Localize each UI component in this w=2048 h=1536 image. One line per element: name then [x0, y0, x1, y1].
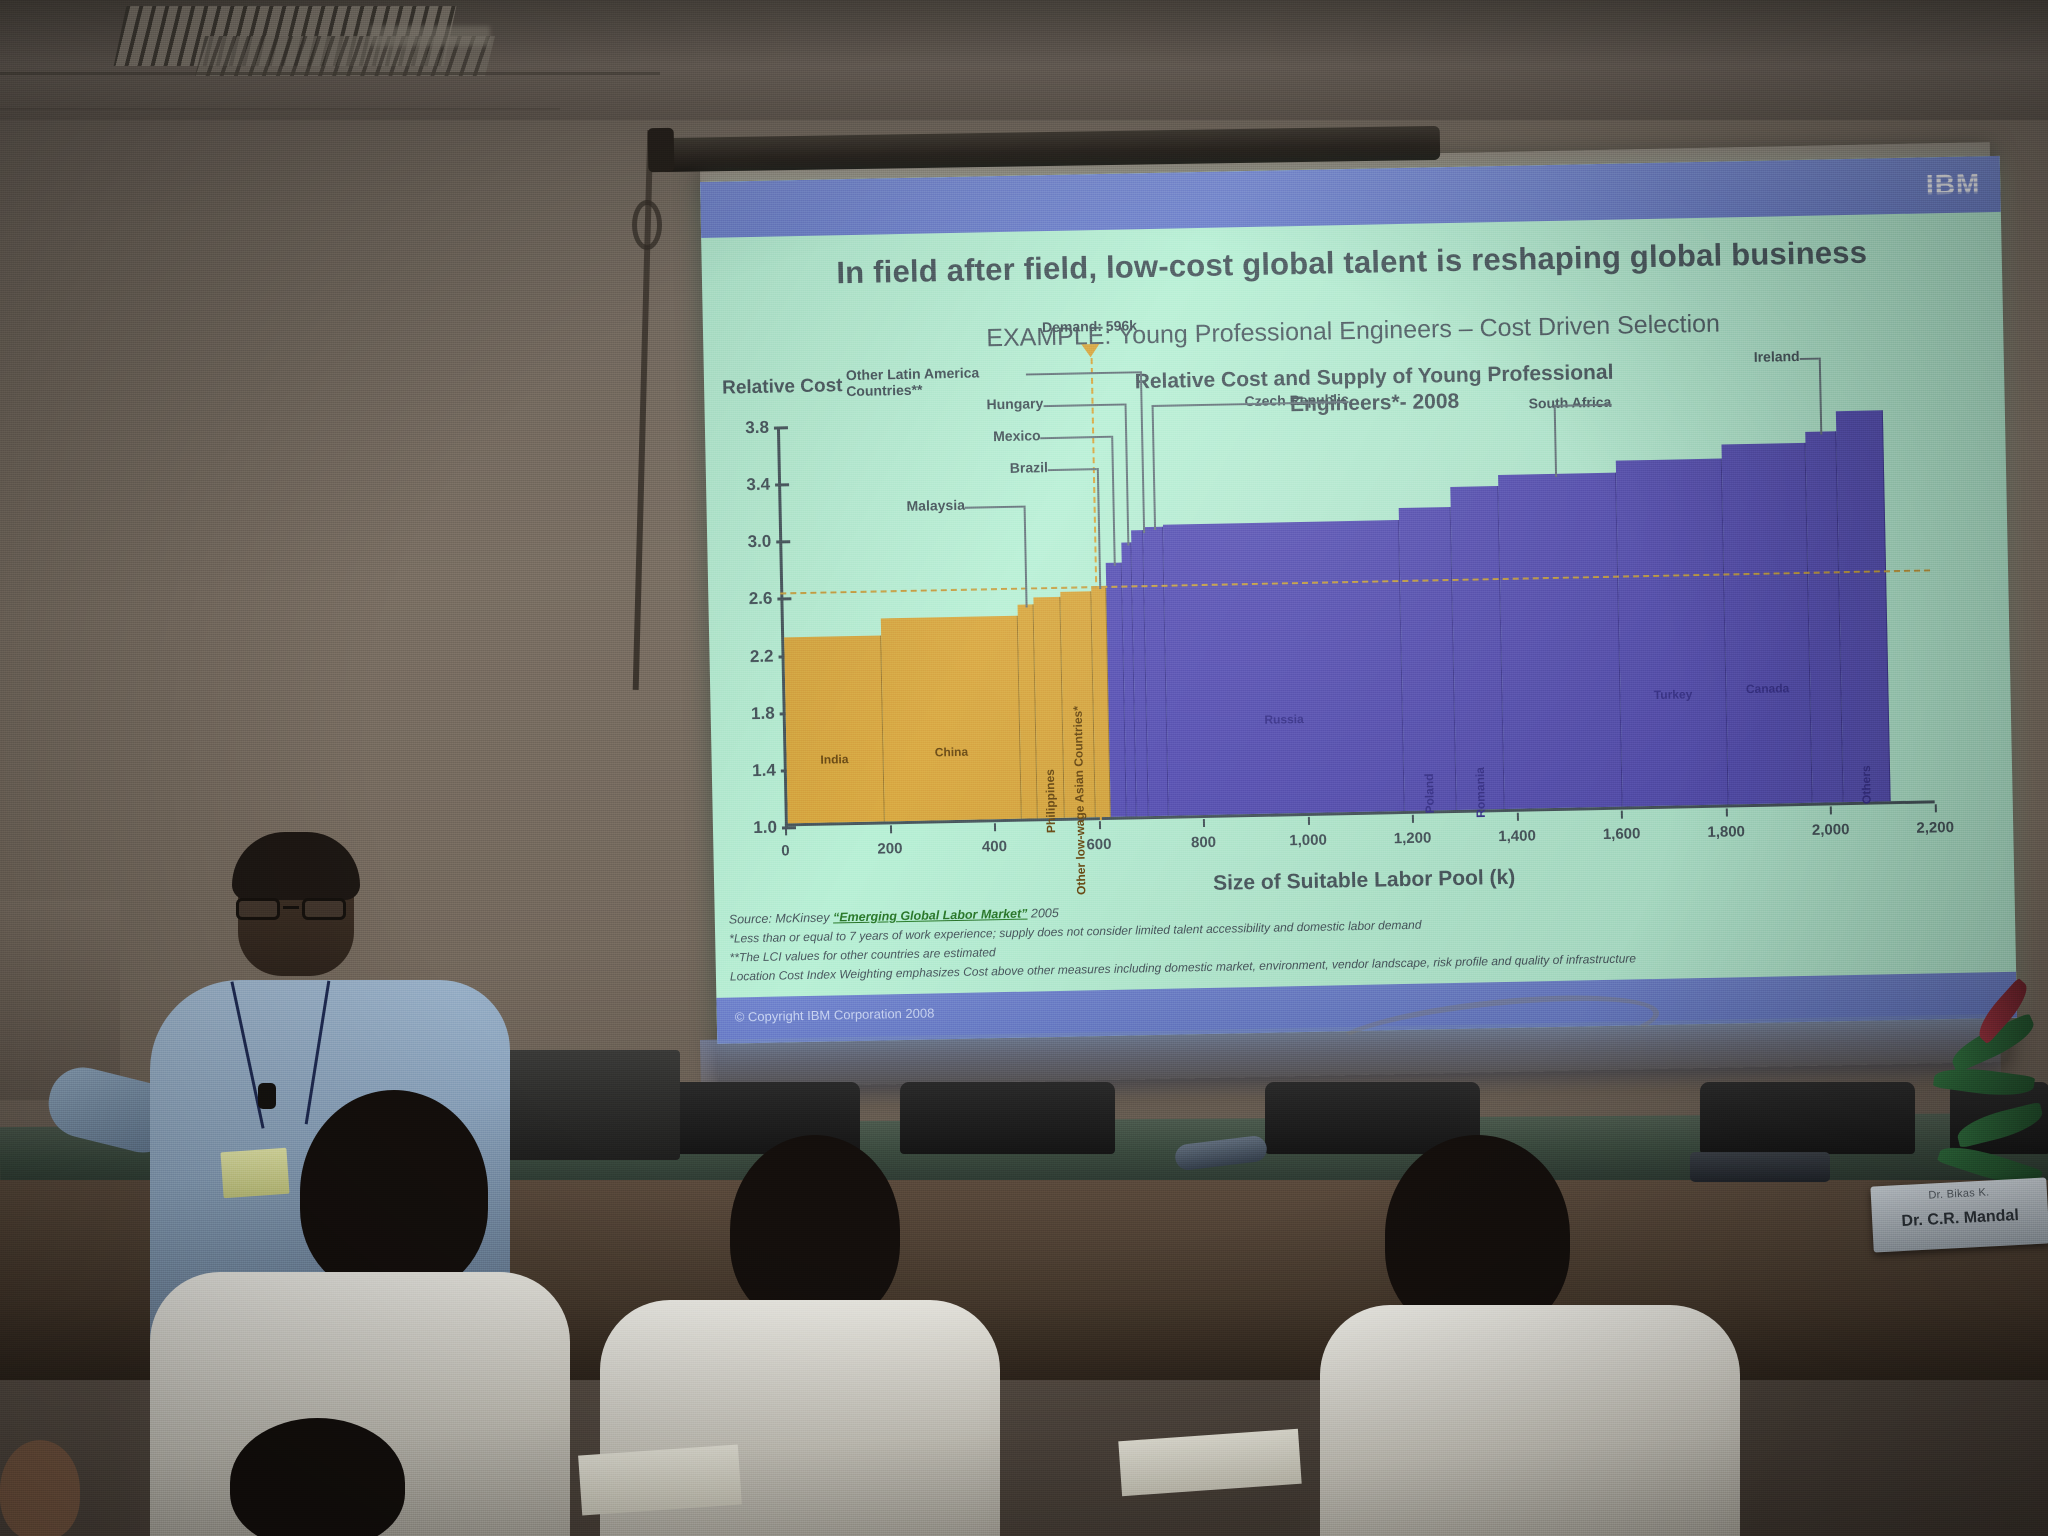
glasses-bridge [283, 906, 299, 909]
x-tick [889, 825, 891, 833]
wall-panel [0, 900, 120, 1100]
copyright-text: © Copyright IBM Corporation 2008 [735, 1005, 935, 1024]
x-tick-label: 2,000 [1812, 821, 1850, 839]
bar-label: Turkey [1654, 687, 1693, 702]
glasses-lens-left [236, 898, 280, 920]
y-tick-label: 1.8 [730, 703, 774, 724]
bar-label: Russia [1264, 712, 1304, 727]
x-tick [1308, 817, 1310, 825]
bar-label: Poland [1422, 773, 1437, 813]
footnote-source-suffix: 2005 [1027, 906, 1059, 921]
x-tick [1517, 813, 1519, 821]
x-tick-label: 1,200 [1394, 829, 1432, 847]
y-axis-title: Relative Cost [722, 375, 843, 399]
nameplate-line-1: Dr. Bikas K. [1871, 1183, 2047, 1204]
demand-arrow-marker [1081, 344, 1099, 357]
callout-leader [1800, 358, 1819, 360]
y-tick-label: 1.0 [733, 818, 777, 839]
y-tick-label: 1.4 [732, 760, 776, 781]
audience-head [230, 1418, 405, 1536]
slide-subtitle: EXAMPLE: Young Professional Engineers – … [703, 304, 2003, 359]
paper-sheet [578, 1444, 742, 1515]
y-tick-label: 2.6 [728, 589, 772, 610]
presenter-lapel-mic [258, 1083, 276, 1109]
x-tick-label: 1,400 [1498, 827, 1536, 845]
callout-other-latin-america-countries: Other Latin America Countries** [846, 363, 1027, 399]
slide-title: In field after field, low-cost global ta… [702, 232, 2002, 294]
bar-label: Philippines [1043, 769, 1058, 833]
bar-russia: Russia [1162, 520, 1404, 816]
x-tick-label: 600 [1086, 836, 1111, 853]
bar-others: Others [1836, 410, 1891, 802]
x-tick-label: 1,800 [1707, 823, 1745, 841]
x-tick-label: 200 [877, 840, 902, 857]
bar-series: IndiaChinaPhilippinesOther low-wage Asia… [780, 403, 1935, 823]
callout-leader [1044, 404, 1125, 408]
plant-leaf [1933, 1063, 2035, 1101]
y-tick-label: 3.0 [727, 532, 771, 553]
footnote-source-link[interactable]: “Emerging Global Labor Market” [833, 907, 1028, 925]
nameplate-line-2: Dr. C.R. Mandal [1872, 1205, 2048, 1232]
x-tick-label: 400 [982, 838, 1007, 855]
footnote-source-prefix: Source: McKinsey [729, 910, 833, 926]
bar-india: India [784, 636, 884, 824]
x-tick-label: 0 [781, 842, 790, 859]
y-tick-label: 3.4 [726, 475, 770, 496]
x-tick-label: 1,600 [1603, 825, 1641, 843]
glasses-lens-right [302, 898, 346, 920]
chair [900, 1082, 1115, 1154]
projected-slide: IBM In field after field, low-cost globa… [700, 156, 2017, 1044]
callout-czech-republic: Czech Republic [1244, 391, 1349, 409]
bar-turkey: Turkey [1616, 459, 1728, 807]
screen-roller-cap [648, 128, 675, 172]
chart-plot-area: 1.01.41.82.22.63.03.43.8 02004006008001,… [777, 403, 1935, 826]
ceiling-light [370, 26, 490, 46]
bar-label: Other low-wage Asian Countries* [1071, 706, 1089, 895]
bar-other-low-wage-asian-countries: Other low-wage Asian Countries* [1060, 592, 1096, 818]
x-tick [785, 827, 787, 835]
bar-south-africa [1498, 472, 1623, 809]
x-tick-label: 1,000 [1289, 832, 1327, 850]
bar-label: Canada [1746, 681, 1790, 696]
x-tick [1621, 811, 1623, 819]
callout-malaysia: Malaysia [906, 497, 965, 514]
bar-label: Others [1859, 765, 1874, 804]
ibm-logo: IBM [1926, 168, 1981, 201]
audience-torso [1320, 1305, 1740, 1536]
microphone-secondary [1690, 1152, 1830, 1182]
callout-hungary: Hungary [986, 395, 1043, 412]
audience-head [0, 1440, 80, 1536]
chair [1700, 1082, 1915, 1154]
bar-label: Romania [1473, 767, 1488, 818]
bar-china: China [881, 616, 1023, 822]
bar-poland: Poland [1399, 507, 1457, 811]
wall-seam-lower [0, 108, 560, 110]
callout-mexico: Mexico [993, 427, 1041, 444]
y-tick-label: 2.2 [729, 646, 773, 667]
audience-head [730, 1135, 900, 1325]
wall-seam [0, 72, 660, 75]
x-tick [994, 823, 996, 831]
callout-brazil: Brazil [1010, 459, 1048, 476]
presenter-glasses [236, 898, 346, 920]
presenter-badge [220, 1148, 289, 1198]
x-tick-label: 2,200 [1916, 819, 1954, 837]
x-tick [1099, 821, 1101, 829]
bar-label: India [820, 752, 848, 767]
x-tick [1726, 809, 1728, 817]
cable-loop [632, 200, 662, 250]
callout-south-africa: South Africa [1528, 394, 1611, 412]
demand-label: Demand: 596k [1042, 317, 1137, 335]
x-tick [1203, 819, 1205, 827]
x-tick-label: 800 [1191, 834, 1216, 851]
callout-ireland: Ireland [1754, 348, 1800, 365]
plant-leaf [1954, 1102, 2046, 1149]
x-tick [1830, 806, 1832, 814]
lecture-hall-photo: IBM In field after field, low-cost globa… [0, 0, 2048, 1536]
bar-romania: Romania [1450, 486, 1505, 810]
audience-head [300, 1090, 488, 1295]
bar-label: China [935, 745, 969, 760]
y-tick-label: 3.8 [725, 418, 769, 439]
x-tick [1412, 815, 1414, 823]
x-tick [1935, 804, 1937, 812]
callout-leader [1819, 358, 1823, 435]
desk-nameplate: Dr. Bikas K. Dr. C.R. Mandal [1870, 1177, 2048, 1252]
bar-canada: Canada [1721, 443, 1812, 805]
